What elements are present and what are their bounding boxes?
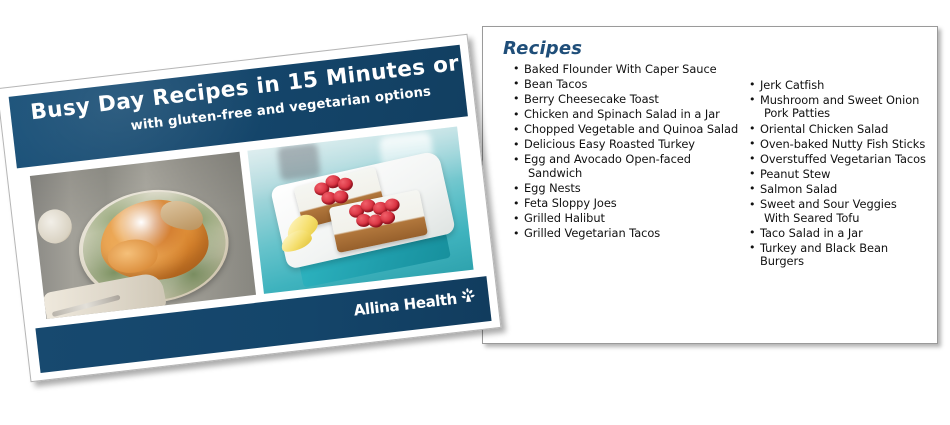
recipe-list-left: Baked Flounder With Caper SauceBean Taco… <box>513 63 741 241</box>
recipe-list-item: Taco Salad in a Jar <box>749 227 927 241</box>
recipe-list-item: Baked Flounder With Caper Sauce <box>513 63 741 77</box>
recipes-column-right: Jerk CatfishMushroom and Sweet OnionPork… <box>741 63 927 271</box>
brand-name: Allina Health <box>353 290 458 320</box>
roast-chicken-photo <box>30 152 256 319</box>
recipe-list-item: Egg and Avocado Open-facedSandwich <box>513 153 741 180</box>
allina-health-burst-icon <box>459 285 478 309</box>
recipe-list-item: Jerk Catfish <box>749 79 927 93</box>
recipe-list-item: Sweet and Sour VeggiesWith Seared Tofu <box>749 198 927 225</box>
recipe-list-item: Peanut Stew <box>749 168 927 182</box>
recipes-slide-card[interactable]: Recipes Baked Flounder With Caper SauceB… <box>482 26 938 344</box>
title-slide-content: Busy Day Recipes in 15 Minutes or Less w… <box>9 45 492 373</box>
recipe-list-item: Egg Nests <box>513 182 741 196</box>
recipe-list-item: Feta Sloppy Joes <box>513 197 741 211</box>
slide-preview-stage: Recipes Baked Flounder With Caper SauceB… <box>0 0 950 425</box>
recipe-list-right: Jerk CatfishMushroom and Sweet OnionPork… <box>749 79 927 269</box>
recipe-list-item-continuation: Sandwich <box>524 167 741 181</box>
side-bowl-shape <box>36 208 74 246</box>
recipes-slide-content: Recipes Baked Flounder With Caper SauceB… <box>483 27 937 343</box>
recipe-list-item: Bean Tacos <box>513 78 741 92</box>
recipe-list-item: Salmon Salad <box>749 183 927 197</box>
title-slide-card-wrapper: Busy Day Recipes in 15 Minutes or Less w… <box>0 34 501 383</box>
recipes-heading: Recipes <box>503 39 927 59</box>
recipe-list-item: Overstuffed Vegetarian Tacos <box>749 153 927 167</box>
recipe-list-item: Oriental Chicken Salad <box>749 123 927 137</box>
recipe-list-item: Grilled Vegetarian Tacos <box>513 227 741 241</box>
recipe-list-item: Chicken and Spinach Salad in a Jar <box>513 108 741 122</box>
recipe-list-item: Delicious Easy Roasted Turkey <box>513 138 741 152</box>
recipes-columns: Baked Flounder With Caper SauceBean Taco… <box>503 63 927 271</box>
recipes-column-left: Baked Flounder With Caper SauceBean Taco… <box>503 63 741 243</box>
recipe-list-item-continuation: Pork Patties <box>760 107 927 121</box>
recipe-list-item: Turkey and Black Bean Burgers <box>749 242 927 269</box>
recipe-list-item: Grilled Halibut <box>513 212 741 226</box>
recipe-list-item: Mushroom and Sweet OnionPork Patties <box>749 94 927 121</box>
recipe-list-item: Berry Cheesecake Toast <box>513 93 741 107</box>
recipe-list-item: Oven-baked Nutty Fish Sticks <box>749 138 927 152</box>
recipe-list-item-continuation: With Seared Tofu <box>760 212 927 226</box>
background-pot-shape <box>277 143 321 181</box>
title-slide-card[interactable]: Busy Day Recipes in 15 Minutes or Less w… <box>0 34 501 383</box>
recipe-list-item: Chopped Vegetable and Quinoa Salad <box>513 123 741 137</box>
brand-logo[interactable]: Allina Health <box>353 285 478 321</box>
berry-cheesecake-toast-photo <box>247 127 473 294</box>
